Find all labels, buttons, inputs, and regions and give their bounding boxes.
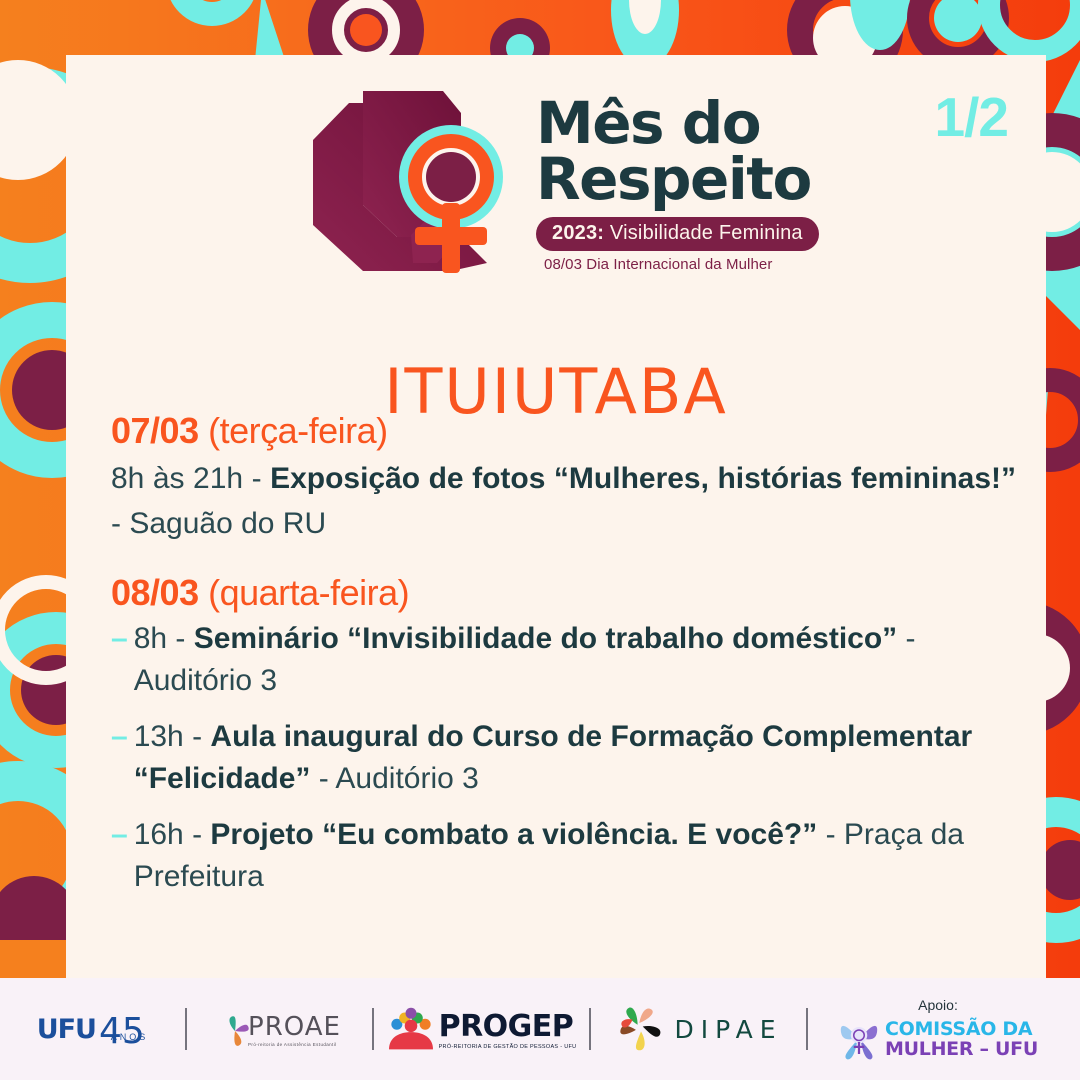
entry-text-plain: - Saguão do RU — [111, 507, 326, 540]
schedule-entry: –13h - Aula inaugural do Curso de Formaç… — [111, 716, 1016, 800]
apoio-label: Apoio: — [918, 997, 958, 1013]
schedule-day-heading: 08/03 (quarta-feira) — [111, 572, 1016, 614]
entry-dash-icon: – — [111, 716, 128, 758]
entry-text-emphasis: Aula inaugural do Curso de Formação Comp… — [134, 720, 973, 795]
sponsors-footer: UFU 45 ANOS PROAE Pró-reitoria de Assist… — [0, 978, 1080, 1080]
entry-text-plain: 8h - — [134, 622, 194, 655]
dipae-hands-icon — [615, 1006, 667, 1052]
schedule-day: 08/03 (quarta-feira)–8h - Seminário “Inv… — [111, 572, 1016, 898]
schedule-list: 07/03 (terça-feira)8h às 21h - Exposição… — [111, 410, 1016, 924]
progep-logo[interactable]: PROGEP PRÓ-REITORIA DE GESTÃO DE PESSOAS… — [374, 1007, 589, 1051]
progep-logo-subtitle: PRÓ-REITORIA DE GESTÃO DE PESSOAS - UFU — [439, 1044, 577, 1050]
apoio-block: Apoio: COMISSÃO DA MULHER – UFU — [808, 997, 1068, 1061]
entry-text-plain: 8h às 21h - — [111, 462, 270, 495]
logo-wordmark: Mês do Respeito 2023: Visibilidade Femin… — [536, 95, 996, 273]
ufu-logo[interactable]: UFU 45 ANOS — [0, 1014, 185, 1045]
schedule-day-date: 07/03 — [111, 410, 199, 451]
entry-dash-icon: – — [111, 814, 128, 856]
proae-logo-subtitle: Pró-reitoria de Assistência Estudantil — [248, 1042, 341, 1047]
schedule-entry: –16h - Projeto “Eu combato a violência. … — [111, 814, 1016, 898]
theme-badge-subtitle: 08/03 Dia Internacional da Mulher — [536, 256, 996, 273]
theme-badge-text: Visibilidade Feminina — [604, 222, 803, 244]
entry-text-emphasis: Projeto “Eu combato a violência. E você?… — [210, 818, 817, 851]
content-card: 1/2 — [66, 55, 1046, 978]
schedule-day-heading: 07/03 (terça-feira) — [111, 410, 1016, 452]
entry-text-plain: 16h - — [134, 818, 211, 851]
ufu-anniversary-label: ANOS — [111, 1032, 149, 1042]
entry-text: 16h - Projeto “Eu combato a violência. E… — [134, 814, 1016, 898]
schedule-entry: –8h - Seminário “Invisibilidade do traba… — [111, 618, 1016, 702]
entry-text: 13h - Aula inaugural do Curso de Formaçã… — [134, 716, 1016, 800]
schedule-entry: 8h às 21h - Exposição de fotos “Mulheres… — [111, 456, 1016, 546]
dipae-logo-text: DIPAE — [675, 1015, 783, 1044]
schedule-day-weekday: (terça-feira) — [199, 410, 388, 451]
mes-do-respeito-logo-icon — [301, 85, 531, 285]
page-indicator: 1/2 — [935, 85, 1008, 149]
theme-badge: 2023: Visibilidade Feminina — [536, 217, 819, 251]
footer-divider-1 — [185, 1008, 187, 1050]
proae-logo[interactable]: PROAE Pró-reitoria de Assistência Estuda… — [187, 1011, 372, 1047]
entry-text-emphasis: Exposição de fotos “Mulheres, histórias … — [270, 462, 1016, 495]
schedule-day-date: 08/03 — [111, 572, 199, 613]
ufu-logo-text: UFU — [37, 1014, 96, 1045]
entry-text: 8h - Seminário “Invisibilidade do trabal… — [134, 618, 1016, 702]
footer-divider-4 — [806, 1008, 808, 1050]
poster-header: Mês do Respeito 2023: Visibilidade Femin… — [66, 55, 1046, 295]
progep-people-icon — [387, 1007, 435, 1051]
proae-logo-text: PROAE — [248, 1012, 341, 1042]
footer-divider-3 — [589, 1008, 591, 1050]
entry-text-plain: 13h - — [134, 720, 211, 753]
entry-text-plain: - Auditório 3 — [310, 762, 478, 795]
footer-divider-2 — [372, 1008, 374, 1050]
progep-logo-text: PROGEP — [439, 1009, 577, 1044]
poster-canvas: 1/2 — [0, 0, 1080, 1080]
comissao-logo-line1: COMISSÃO DA — [885, 1019, 1038, 1039]
title-line-2: Respeito — [536, 151, 996, 207]
schedule-day: 07/03 (terça-feira)8h às 21h - Exposição… — [111, 410, 1016, 546]
comissao-butterfly-icon — [838, 1017, 880, 1061]
comissao-logo-line2: MULHER – UFU — [885, 1039, 1038, 1059]
dipae-logo[interactable]: DIPAE — [591, 1006, 806, 1052]
theme-badge-year: 2023: — [552, 222, 604, 244]
proae-hands-icon — [218, 1011, 252, 1051]
schedule-day-weekday: (quarta-feira) — [199, 572, 410, 613]
entry-dash-icon: – — [111, 618, 128, 660]
title-line-1: Mês do — [536, 95, 996, 151]
entry-text-emphasis: Seminário “Invisibilidade do trabalho do… — [194, 622, 897, 655]
